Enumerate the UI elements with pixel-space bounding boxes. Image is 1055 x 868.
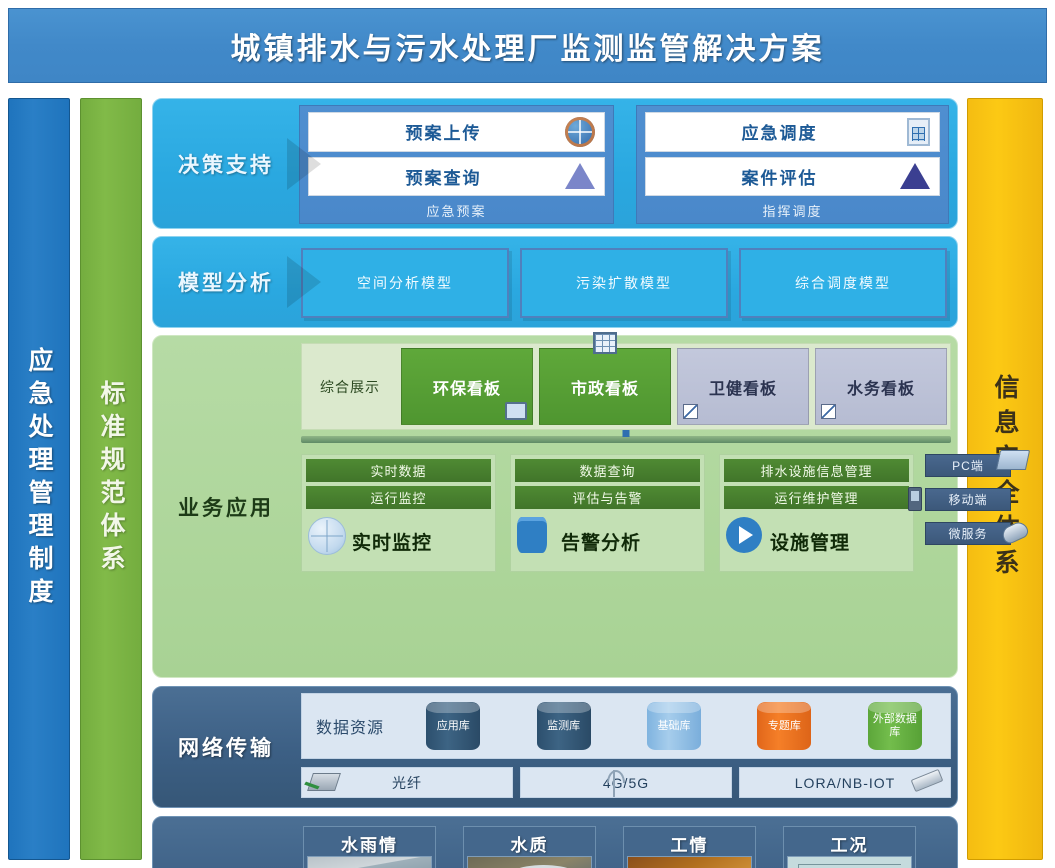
board-strip-label: 综合展示 [302, 344, 398, 429]
monitor-icon [505, 402, 527, 420]
pyramid-dark-icon [900, 163, 930, 189]
layer-data-collection: 数据采集 水雨情 水质 工情 工况 [152, 816, 958, 868]
decision-group-emergency-plan: 预案上传 预案查询 应急预案 [299, 105, 614, 224]
sidebar-information-security: 信息安全体系 [967, 98, 1043, 860]
canal-photo [307, 856, 432, 868]
board-card-water-affairs[interactable]: 水务看板 [815, 348, 947, 425]
network-link-label: LORA/NB-IOT [795, 775, 895, 791]
terminal-microservice[interactable]: 微服务 [925, 522, 1011, 545]
network-link-label: 光纤 [392, 773, 422, 793]
play-icon [726, 517, 762, 553]
data-collection-label: 数据采集 [153, 817, 299, 868]
business-footer-label: 告警分析 [561, 528, 641, 555]
scada-schematic-photo [787, 856, 912, 868]
network-link-fiber[interactable]: 光纤 [301, 767, 513, 798]
data-card-rainfall[interactable]: 水雨情 [303, 826, 436, 868]
decision-support-label: 决策支持 [153, 99, 299, 228]
model-box-pollution-diffusion[interactable]: 污染扩散模型 [520, 248, 728, 318]
decision-item-label: 预案查询 [309, 164, 604, 189]
decision-group-title: 指挥调度 [645, 201, 940, 223]
data-card-water-quality[interactable]: 水质 [463, 826, 596, 868]
database-monitoring[interactable]: 监测库 [537, 702, 591, 750]
layer-business-application: 业务应用 综合展示 环保看板 市政看板 卫健看板 水务看板 [152, 335, 958, 678]
decision-item-case-assessment[interactable]: 案件评估 [645, 157, 940, 197]
data-resource-label: 数据资源 [302, 714, 398, 738]
pipeline-trench-photo [627, 856, 752, 868]
board-card-label: 水务看板 [847, 375, 915, 399]
data-card-works-condition[interactable]: 工情 [623, 826, 756, 868]
decision-item-plan-query[interactable]: 预案查询 [308, 157, 605, 197]
layer-model-analysis: 模型分析 空间分析模型 污染扩散模型 综合调度模型 [152, 236, 958, 328]
database-thematic[interactable]: 专题库 [757, 702, 811, 750]
business-tag[interactable]: 数据查询 [515, 459, 700, 482]
model-box-spatial[interactable]: 空间分析模型 [301, 248, 509, 318]
database-basic[interactable]: 基础库 [647, 702, 701, 750]
decision-item-label: 案件评估 [646, 164, 939, 189]
data-card-label: 水雨情 [307, 830, 432, 856]
board-card-label: 市政看板 [571, 375, 639, 399]
decision-item-plan-upload[interactable]: 预案上传 [308, 112, 605, 152]
terminal-mobile[interactable]: 移动端 [925, 488, 1011, 511]
terminal-label: PC端 [952, 457, 984, 474]
business-footer-alarm-analysis[interactable]: 告警分析 [515, 513, 700, 569]
sidebar-standard-label: 标准规范体系 [93, 380, 129, 578]
node-icon [683, 404, 698, 419]
sidebar-standard-system: 标准规范体系 [80, 98, 142, 860]
database-slot: 基础库 [619, 702, 729, 750]
database-slot: 外部数据库 [840, 702, 950, 750]
section-divider [301, 436, 951, 443]
layer-network-transmission: 网络传输 数据资源 应用库 监测库 基础库 专题库 外部数据库 [152, 686, 958, 808]
business-footer-label: 设施管理 [770, 528, 850, 555]
laptop-icon [996, 450, 1030, 470]
layer-decision-support: 决策支持 预案上传 预案查询 应急预案 应急调度 案 [152, 98, 958, 229]
node-icon [821, 404, 836, 419]
board-card-environment[interactable]: 环保看板 [401, 348, 533, 425]
data-card-label: 工情 [627, 830, 752, 856]
business-footer-label: 实时监控 [352, 528, 432, 555]
network-transmission-label: 网络传输 [153, 687, 299, 807]
board-card-municipal[interactable]: 市政看板 [539, 348, 671, 425]
model-analysis-label: 模型分析 [153, 237, 299, 327]
business-footer-realtime-monitoring[interactable]: 实时监控 [306, 513, 491, 569]
terminal-label: 移动端 [948, 491, 987, 508]
decision-group-command-dispatch: 应急调度 案件评估 指挥调度 [636, 105, 949, 224]
business-tag[interactable]: 运行维护管理 [724, 486, 909, 509]
terminal-label: 微服务 [948, 525, 987, 542]
decision-item-label: 应急调度 [646, 119, 939, 144]
board-card-label: 环保看板 [433, 375, 501, 399]
business-application-label: 业务应用 [153, 336, 299, 677]
database-icon [517, 517, 547, 553]
database-application[interactable]: 应用库 [426, 702, 480, 750]
globe-light-icon [308, 517, 346, 555]
database-external[interactable]: 外部数据库 [868, 702, 922, 750]
sidebar-security-label: 信息安全体系 [987, 374, 1023, 584]
business-footer-facility-management[interactable]: 设施管理 [724, 513, 909, 569]
terminal-pc[interactable]: PC端 [925, 454, 1011, 477]
decision-item-emergency-dispatch[interactable]: 应急调度 [645, 112, 940, 152]
business-tag[interactable]: 运行监控 [306, 486, 491, 509]
sidebar-emergency-label: 应急处理管理制度 [21, 347, 57, 611]
page-title: 城镇排水与污水处理厂监测监管解决方案 [231, 24, 825, 68]
board-card-label: 卫健看板 [709, 375, 777, 399]
database-slot: 监测库 [508, 702, 618, 750]
business-tag[interactable]: 实时数据 [306, 459, 491, 482]
database-slot: 应用库 [398, 702, 508, 750]
fiber-icon [307, 773, 341, 791]
main-column: 决策支持 预案上传 预案查询 应急预案 应急调度 案 [152, 98, 958, 860]
business-column-realtime: 实时数据 运行监控 实时监控 [301, 454, 496, 572]
business-column-facility: 排水设施信息管理 运行维护管理 设施管理 [719, 454, 914, 572]
data-resource-panel: 数据资源 应用库 监测库 基础库 专题库 外部数据库 [301, 693, 951, 759]
data-card-label: 工况 [787, 830, 912, 856]
decision-group-title: 应急预案 [308, 201, 605, 223]
globe-icon [565, 117, 595, 147]
page-title-banner: 城镇排水与污水处理厂监测监管解决方案 [8, 8, 1047, 83]
sensor-icon [911, 769, 944, 792]
window-icon [593, 332, 617, 354]
data-card-label: 水质 [467, 830, 592, 856]
board-card-health[interactable]: 卫健看板 [677, 348, 809, 425]
decision-item-label: 预案上传 [309, 119, 604, 144]
phone-icon [908, 487, 922, 511]
business-tag[interactable]: 排水设施信息管理 [724, 459, 909, 482]
network-link-cellular[interactable]: 4G/5G [520, 767, 732, 798]
antenna-icon [607, 770, 621, 797]
diagram-root: 城镇排水与污水处理厂监测监管解决方案 应急处理管理制度 标准规范体系 信息安全体… [0, 0, 1055, 868]
pyramid-icon [565, 163, 595, 189]
network-link-lpwan[interactable]: LORA/NB-IOT [739, 767, 951, 798]
model-box-integrated-dispatch[interactable]: 综合调度模型 [739, 248, 947, 318]
clarifier-tanks-photo [467, 856, 592, 868]
board-strip: 综合展示 环保看板 市政看板 卫健看板 水务看板 [301, 343, 951, 430]
grid-icon [907, 118, 930, 146]
business-tag[interactable]: 评估与告警 [515, 486, 700, 509]
business-column-alarm: 数据查询 评估与告警 告警分析 [510, 454, 705, 572]
data-card-operating-status[interactable]: 工况 [783, 826, 916, 868]
database-slot: 专题库 [729, 702, 839, 750]
sidebar-emergency-management: 应急处理管理制度 [8, 98, 70, 860]
